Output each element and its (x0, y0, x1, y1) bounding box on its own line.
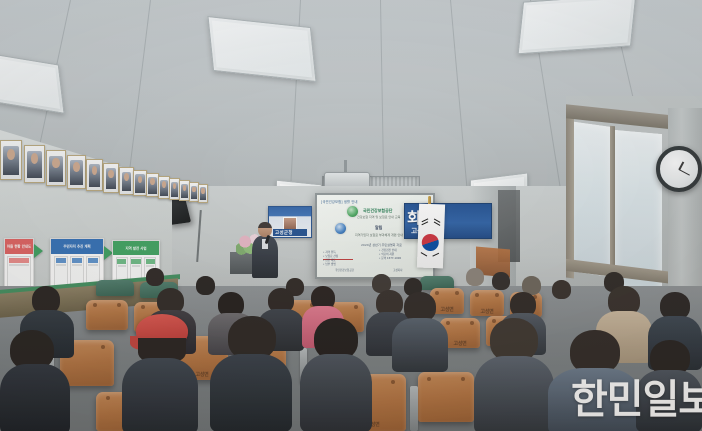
attendee-head (552, 280, 571, 299)
seat (418, 372, 474, 422)
photo-scene: [국민건강보험] 생활 안내 국민건강보험공단 건강보험 자격 및 보험료 안내… (0, 0, 702, 431)
wall-chart-blue-title: 주민자치 추진 계획 (63, 244, 90, 249)
slide-subtitle-3: 2024년 상반기 주민설명회 자료 (361, 243, 402, 247)
presenter-with-microphone (252, 222, 278, 278)
framed-portrait (103, 163, 119, 193)
seat-label: 고성면 (470, 308, 504, 315)
slide-column-left: • 자격 취득 • 보험료 산정 • 감면 제도 • 납부 방법 (323, 251, 338, 267)
window-mullion (610, 126, 615, 287)
attendee-head (466, 268, 484, 286)
green-arrow-icon (34, 244, 43, 258)
seat-back (96, 280, 134, 296)
framed-portrait (119, 167, 134, 195)
attendee (392, 292, 448, 370)
slide-subtitle-2: 지역가입자 보험료 부과체계 개편 안내 (355, 233, 403, 237)
blue-circle-logo (335, 223, 346, 234)
window-pane-left (568, 121, 612, 277)
framed-portrait (67, 155, 86, 189)
slide-subtitle-1: 건강보험 자격 및 보험료 안내 교육 (357, 215, 400, 219)
taeguk-symbol-icon (421, 234, 439, 252)
taegeukgi-korean-flag (417, 204, 445, 269)
wall-chart-green-header: 지역 발전 사업 (113, 241, 159, 255)
seat: 고성면 (470, 290, 504, 316)
wall-chart-blue-header: 주민자치 추진 계획 (51, 239, 103, 254)
seat-armrest (410, 386, 418, 431)
framed-portrait (86, 159, 103, 191)
wall-chart-red-title: 마을 현황 안내도 (7, 244, 31, 249)
round-wall-clock (656, 146, 702, 192)
slide-title: 국민건강보험공단 (363, 208, 392, 214)
wall-chart-red-header: 마을 현황 안내도 (5, 239, 33, 254)
recessed-light-right (518, 0, 637, 54)
attendee-head (146, 268, 164, 286)
framed-portrait (0, 140, 22, 180)
attendee (300, 318, 372, 431)
attendee (0, 330, 70, 431)
wall-chart-green-title: 지역 발전 사업 (125, 246, 146, 251)
recessed-light-center (207, 16, 316, 82)
framed-portrait (24, 145, 45, 183)
watermark-logo: 한민일보 (571, 380, 702, 420)
framed-portrait (133, 170, 147, 196)
attendee-head (492, 272, 510, 290)
slide-column-right: • 건강검진 안내 • 의료비 지원 • 문의 1577-1000 (379, 249, 401, 261)
attendee (210, 316, 292, 431)
slide-footer-left: 국민건강보험공단 (335, 268, 354, 272)
framed-portrait (198, 184, 208, 203)
attendee-with-red-cap (122, 314, 198, 431)
presenter-head (258, 222, 272, 237)
window-sash (566, 117, 574, 278)
slide-header: [국민건강보험] 생활 안내 (321, 199, 358, 204)
slide-heading-2: 알림 (375, 225, 382, 231)
framed-portrait (46, 150, 66, 186)
attendee (474, 318, 554, 431)
slide-footer-right: 고성지사 (393, 268, 403, 272)
